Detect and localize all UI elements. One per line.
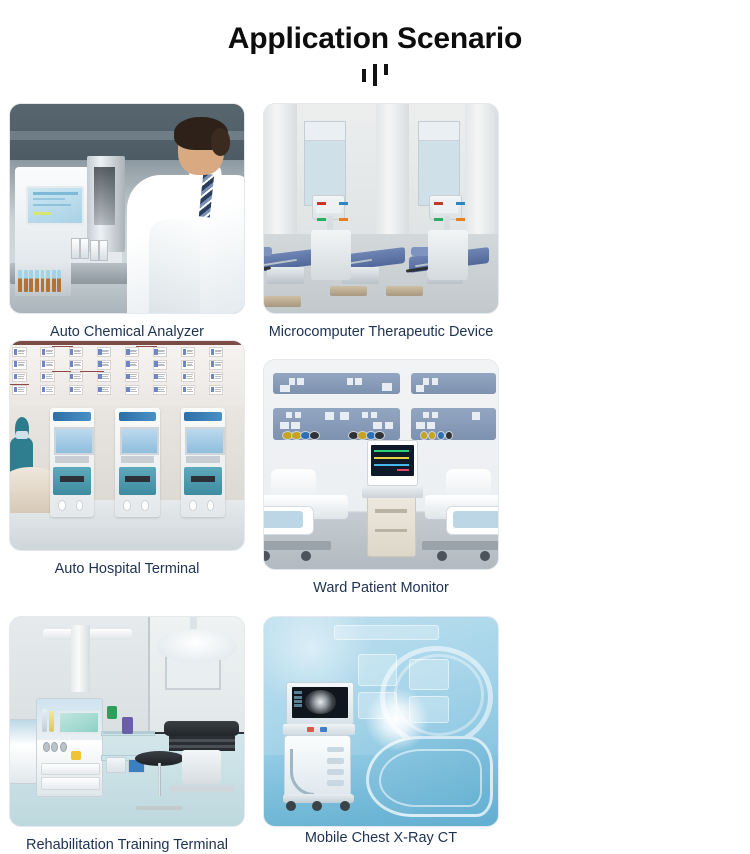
scenario-image-mobile-chest-x-ray-ct	[264, 617, 498, 826]
scenario-card-microcomputer-therapeutic-device[interactable]	[264, 104, 498, 313]
scenario-cell-mobile-chest-x-ray-ct[interactable]: Mobile Chest X-Ray CT	[258, 617, 504, 854]
scenario-caption: Ward Patient Monitor	[313, 580, 449, 597]
scenario-image-microcomputer-therapeutic-device	[264, 104, 498, 313]
divider-bar-middle	[373, 64, 377, 86]
scenario-cell-auto-hospital-terminal[interactable]: Auto Hospital Terminal	[4, 341, 250, 597]
scenario-grid: Auto Chemical Analyzer Micr	[0, 104, 750, 854]
scenario-card-mobile-chest-x-ray-ct[interactable]	[264, 617, 498, 826]
scenario-cell-microcomputer-therapeutic-device[interactable]: Microcomputer Therapeutic Device	[258, 104, 504, 341]
scenario-cell-auto-chemical-analyzer[interactable]: Auto Chemical Analyzer	[4, 104, 250, 341]
scenario-card-ward-patient-monitor[interactable]	[264, 360, 498, 569]
page-header: Application Scenario	[0, 0, 750, 86]
scenario-image-rehabilitation-training-terminal	[10, 617, 244, 826]
scenario-card-auto-hospital-terminal[interactable]	[10, 341, 244, 550]
page-title: Application Scenario	[0, 22, 750, 55]
scenario-caption: Auto Hospital Terminal	[55, 561, 200, 578]
scenario-caption: Microcomputer Therapeutic Device	[269, 324, 494, 341]
scenario-cell-ward-patient-monitor[interactable]: Ward Patient Monitor	[258, 360, 504, 597]
scenario-caption: Rehabilitation Training Terminal	[26, 837, 228, 854]
divider-bar-right	[384, 64, 388, 75]
scenario-cell-rehabilitation-training-terminal[interactable]: Rehabilitation Training Terminal	[4, 617, 250, 854]
scenario-image-auto-chemical-analyzer	[10, 104, 244, 313]
scenario-image-auto-hospital-terminal	[10, 341, 244, 550]
divider-bar-left	[362, 69, 366, 82]
scenario-card-auto-chemical-analyzer[interactable]	[10, 104, 244, 313]
scenario-caption: Mobile Chest X-Ray CT	[305, 830, 457, 847]
title-divider-icon	[352, 64, 398, 86]
scenario-caption: Auto Chemical Analyzer	[50, 324, 204, 341]
scenario-card-rehabilitation-training-terminal[interactable]	[10, 617, 244, 826]
scenario-image-ward-patient-monitor	[264, 360, 498, 569]
